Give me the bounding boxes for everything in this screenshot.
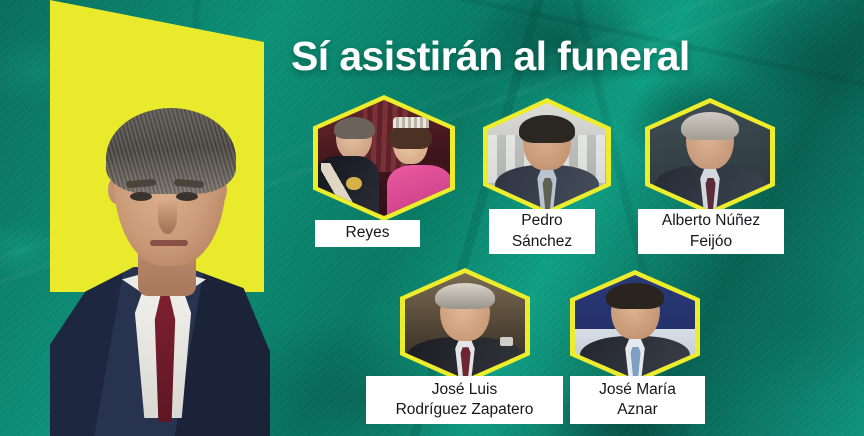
attendee-label-jose-luis-rodriguez-zapatero: José Luis Rodríguez Zapatero xyxy=(366,376,563,424)
infographic-canvas: Sí asistirán al funeral Reyes xyxy=(0,0,864,436)
portrait-hair xyxy=(106,108,236,194)
attendee-label-pedro-sanchez: Pedro Sánchez xyxy=(489,209,595,254)
portrait-eye-left xyxy=(130,192,152,201)
carlos-mazon-portrait xyxy=(46,72,272,436)
hexagon-photo-pedro-sanchez xyxy=(488,103,606,210)
attendee-label-alberto-nunez-feijoo: Alberto Núñez Feijóo xyxy=(638,209,784,254)
hexagon-photo-alberto-nunez-feijoo xyxy=(650,103,770,210)
attendee-card-jose-maria-aznar[interactable] xyxy=(570,270,700,384)
hexagon-frame-jose-luis-rodriguez-zapatero xyxy=(400,268,530,384)
attendee-card-pedro-sanchez[interactable] xyxy=(483,98,611,215)
hexagon-frame-alberto-nunez-feijoo xyxy=(645,98,775,215)
hexagon-frame-jose-maria-aznar xyxy=(570,270,700,384)
portrait-mouth xyxy=(150,240,188,246)
page-title: Sí asistirán al funeral xyxy=(291,33,690,80)
portrait-nose xyxy=(158,200,177,234)
attendee-label-jose-maria-aznar: José María Aznar xyxy=(570,376,705,424)
hexagon-photo-jose-maria-aznar xyxy=(575,275,695,379)
portrait-eye-right xyxy=(176,192,198,201)
hexagon-frame-reyes xyxy=(313,95,455,221)
attendee-card-reyes[interactable] xyxy=(313,95,455,221)
hexagon-frame-pedro-sanchez xyxy=(483,98,611,215)
attendee-card-jose-luis-rodriguez-zapatero[interactable] xyxy=(400,268,530,384)
hexagon-photo-reyes xyxy=(318,100,450,216)
hexagon-photo-jose-luis-rodriguez-zapatero xyxy=(405,273,525,379)
attendee-card-alberto-nunez-feijoo[interactable] xyxy=(645,98,775,215)
attendee-label-reyes: Reyes xyxy=(315,220,420,247)
